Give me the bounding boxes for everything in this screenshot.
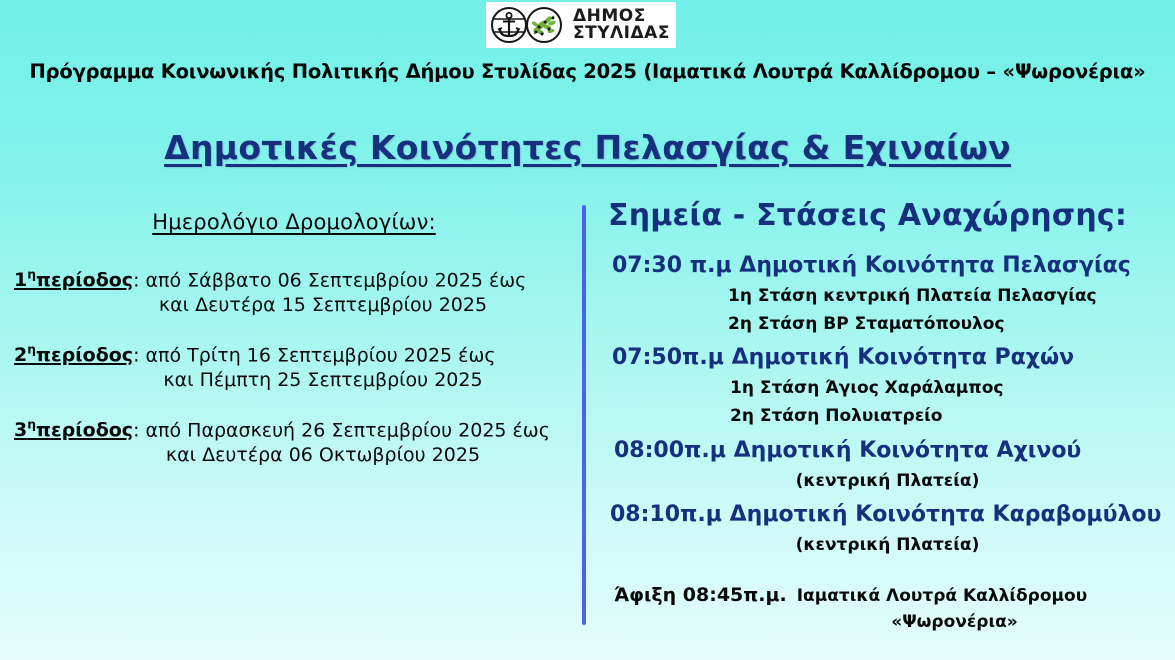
period-range-line2: και Πέμπτη 25 Σεπτεμβρίου 2025: [14, 368, 574, 392]
period-ordinal: η: [27, 268, 36, 282]
period-ordinal: η: [27, 418, 36, 432]
stop-group: 07:30 π.μ Δημοτική Κοινότητα Πελασγίας 1…: [600, 251, 1175, 336]
period-word: περίοδος: [36, 269, 133, 291]
period-entry: 3ηπερίοδος: από Παρασκευή 26 Σεπτεμβρίου…: [14, 418, 574, 467]
period-line-primary: 2ηπερίοδος: από Τρίτη 16 Σεπτεμβρίου 202…: [14, 343, 574, 368]
olive-branch-emblem-icon: [527, 8, 561, 42]
calendar-heading: Ημερολόγιο Δρομολογίων:: [14, 210, 574, 234]
departure-points-column: Σημεία - Στάσεις Αναχώρησης: 07:30 π.μ Δ…: [600, 198, 1175, 635]
arrival-label: Άφιξη 08:45π.μ.: [614, 584, 787, 606]
period-range-line1: από Σάββατο 06 Σεπτεμβρίου 2025 έως: [146, 269, 527, 291]
sub-stop-note: (κεντρική Πλατεία): [600, 533, 1175, 558]
municipality-logo: ΔΗΜΟΣ ΣΤΥΛΙΔΑΣ: [486, 2, 676, 48]
period-number: 1: [14, 269, 27, 291]
period-label: 3ηπερίοδος: [14, 419, 133, 441]
period-entry: 2ηπερίοδος: από Τρίτη 16 Σεπτεμβρίου 202…: [14, 343, 574, 392]
period-line-primary: 1ηπερίοδος: από Σάββατο 06 Σεπτεμβρίου 2…: [14, 268, 574, 293]
period-number: 3: [14, 419, 27, 441]
schedule-calendar-column: Ημερολόγιο Δρομολογίων: 1ηπερίοδος: από …: [14, 210, 574, 493]
logo-wordmark: ΔΗΜΟΣ ΣΤΥΛΙΔΑΣ: [573, 8, 670, 42]
stop-main-line: 07:30 π.μ Δημοτική Κοινότητα Πελασγίας: [600, 251, 1175, 280]
period-separator: :: [133, 419, 139, 441]
period-separator: :: [133, 344, 139, 366]
anchor-emblem-icon: [492, 8, 526, 42]
arrival-place-alias: «Ψωρονέρια»: [614, 611, 1175, 635]
sub-stop-line: 1η Στάση κεντρική Πλατεία Πελασγίας: [600, 284, 1175, 309]
column-divider: [582, 205, 586, 625]
period-separator: :: [133, 269, 139, 291]
period-range-line1: από Παρασκευή 26 Σεπτεμβρίου 2025 έως: [146, 419, 550, 441]
period-range-line2: και Δευτέρα 15 Σεπτεμβρίου 2025: [14, 293, 574, 317]
arrival-place: Ιαματικά Λουτρά Καλλίδρομου: [787, 586, 1087, 606]
stop-group: 08:00π.μ Δημοτική Κοινότητα Αχινού (κεντ…: [600, 436, 1175, 494]
poster-page: ΔΗΜΟΣ ΣΤΥΛΙΔΑΣ Πρόγραμμα Κοινωνικής Πολι…: [0, 0, 1175, 660]
period-ordinal: η: [27, 343, 36, 357]
sub-stop-note: (κεντρική Πλατεία): [600, 469, 1175, 494]
sub-stop-line: 2η Στάση ΒΡ Σταματόπουλος: [600, 312, 1175, 337]
sub-stop-line: 1η Στάση Άγιος Χαράλαμπος: [600, 376, 1175, 401]
period-word: περίοδος: [36, 419, 133, 441]
period-label: 2ηπερίοδος: [14, 344, 133, 366]
departure-points-heading: Σημεία - Στάσεις Αναχώρησης:: [608, 198, 1175, 233]
stop-main-line: 08:10π.μ Δημοτική Κοινότητα Καραβομύλου: [600, 500, 1175, 529]
stop-main-line: 07:50π.μ Δημοτική Κοινότητα Ραχών: [600, 343, 1175, 372]
page-title: Δημοτικές Κοινότητες Πελασγίας & Εχιναίω…: [0, 128, 1175, 167]
logo-line-2: ΣΤΥΛΙΔΑΣ: [573, 25, 670, 42]
logo-emblems: [490, 6, 566, 44]
stop-main-line: 08:00π.μ Δημοτική Κοινότητα Αχινού: [600, 436, 1175, 465]
period-range-line2: και Δευτέρα 06 Οκτωβρίου 2025: [14, 443, 574, 467]
stop-group: 08:10π.μ Δημοτική Κοινότητα Καραβομύλου …: [600, 500, 1175, 558]
period-entry: 1ηπερίοδος: από Σάββατο 06 Σεπτεμβρίου 2…: [14, 268, 574, 317]
stop-group: 07:50π.μ Δημοτική Κοινότητα Ραχών 1η Στά…: [600, 343, 1175, 428]
period-line-primary: 3ηπερίοδος: από Παρασκευή 26 Σεπτεμβρίου…: [14, 418, 574, 443]
program-subtitle: Πρόγραμμα Κοινωνικής Πολιτικής Δήμου Στυ…: [0, 60, 1175, 83]
arrival-block: Άφιξη 08:45π.μ.Ιαματικά Λουτρά Καλλίδρομ…: [600, 582, 1175, 635]
period-number: 2: [14, 344, 27, 366]
period-word: περίοδος: [36, 344, 133, 366]
period-label: 1ηπερίοδος: [14, 269, 133, 291]
period-range-line1: από Τρίτη 16 Σεπτεμβρίου 2025 έως: [146, 344, 496, 366]
sub-stop-line: 2η Στάση Πολυιατρείο: [600, 404, 1175, 429]
